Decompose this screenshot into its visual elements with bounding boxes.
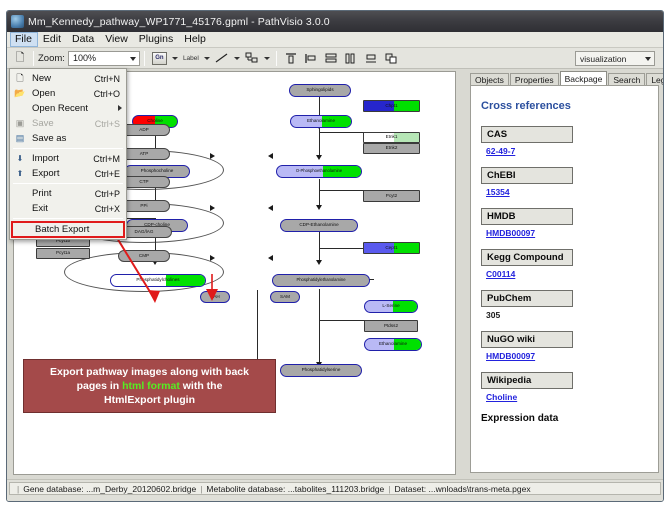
node-sphingolipids[interactable]: Sphingolipids bbox=[289, 84, 351, 97]
node-label: Sphingolipids bbox=[306, 88, 333, 93]
node-phosphatidylethanolamine[interactable]: Phosphatidylethanolamine bbox=[272, 274, 370, 287]
label-dropdown-icon[interactable] bbox=[204, 57, 210, 60]
screenshot-root: Mm_Kennedy_pathway_WP1771_45176.gpml - P… bbox=[0, 0, 670, 509]
menu-edit[interactable]: Edit bbox=[38, 32, 67, 47]
zoom-combo[interactable]: 100% bbox=[68, 51, 140, 66]
label-tool-label: Label bbox=[183, 55, 199, 62]
menu-view[interactable]: View bbox=[100, 32, 134, 47]
node-label: Phosphatidylserine bbox=[302, 368, 341, 373]
node-label: CMP bbox=[139, 254, 149, 259]
node-cept1[interactable]: Cept1 bbox=[363, 242, 420, 254]
status-gene-db-value: ...m_Derby_20120602.bridge bbox=[86, 484, 196, 494]
import-icon: ⬇ bbox=[12, 152, 28, 165]
menu-item-label: Save bbox=[28, 118, 95, 129]
menu-item-import[interactable]: ⬇ Import Ctrl+M bbox=[10, 151, 126, 166]
node-ethanolamine-bottom[interactable]: Ethanolamine bbox=[364, 338, 422, 351]
pathvisio-window: Mm_Kennedy_pathway_WP1771_45176.gpml - P… bbox=[6, 10, 664, 502]
node-label: CTP bbox=[139, 180, 148, 185]
blank-icon bbox=[12, 102, 28, 115]
chevron-down-icon bbox=[645, 57, 651, 61]
menu-item-label: Import bbox=[28, 153, 93, 164]
toolbar: 🗋 Zoom: 100% Gn Label bbox=[7, 48, 663, 69]
node-label: Ethanolamine bbox=[379, 342, 407, 347]
expression-data-title: Expression data bbox=[481, 413, 648, 424]
node-phosphatidylserine[interactable]: Phosphatidylserine bbox=[280, 364, 362, 377]
arrow-to-cdpetn bbox=[316, 205, 322, 210]
menu-item-accel: Ctrl+M bbox=[93, 154, 126, 164]
align-top-button[interactable] bbox=[282, 50, 300, 66]
node-label: ATP bbox=[140, 152, 149, 157]
toolbar-separator-1 bbox=[33, 51, 34, 66]
menu-item-accel: Ctrl+X bbox=[95, 204, 126, 214]
align-left-button[interactable] bbox=[302, 50, 320, 66]
main-body: Sphingolipids Choline Ethanolamine ADP A… bbox=[7, 69, 663, 479]
status-gene-db-label: Gene database: bbox=[23, 484, 84, 494]
menu-item-accel: Ctrl+S bbox=[95, 119, 126, 129]
node-label: CDP-Ethanolamine bbox=[299, 223, 338, 228]
menu-item-label: New bbox=[28, 73, 94, 84]
new-toolbar-button[interactable]: 🗋 bbox=[12, 50, 28, 66]
menu-item-batch-export[interactable]: Batch Export bbox=[11, 221, 125, 238]
node-ptdss2[interactable]: Ptdss2 bbox=[364, 320, 418, 332]
arrow-to-ptdetn bbox=[316, 260, 322, 265]
menu-plugins[interactable]: Plugins bbox=[134, 32, 179, 47]
same-width-button[interactable] bbox=[342, 50, 360, 66]
menu-item-open-recent[interactable]: Open Recent bbox=[10, 101, 126, 116]
toolbar-separator-2 bbox=[144, 51, 145, 66]
node-label: Phosphocholine bbox=[141, 169, 174, 174]
xref-head-hmdb: HMDB bbox=[481, 208, 573, 225]
node-etnk2[interactable]: Etnk2 bbox=[363, 143, 420, 154]
menu-item-exit[interactable]: Exit Ctrl+X bbox=[10, 201, 126, 216]
status-metabolite-db-value: ...tabolites_111203.bridge bbox=[288, 484, 385, 494]
node-label: Cept1 bbox=[385, 246, 397, 251]
blank-icon bbox=[12, 187, 28, 200]
visualization-combo[interactable]: visualization bbox=[575, 51, 655, 66]
menu-item-save: ▣ Save Ctrl+S bbox=[10, 116, 126, 131]
tab-backpage[interactable]: Backpage bbox=[560, 71, 608, 86]
node-label: Pcyt1a bbox=[56, 251, 70, 256]
xref-value-kegg[interactable]: C00114 bbox=[481, 269, 648, 279]
menu-separator-1 bbox=[13, 148, 123, 149]
node-label: Phosphatidylcholines bbox=[136, 278, 179, 283]
node-label: L-Serine bbox=[382, 304, 399, 309]
xref-head-kegg: Kegg Compound bbox=[481, 249, 573, 266]
line-icon bbox=[215, 52, 229, 64]
menu-item-label: Export bbox=[28, 168, 95, 179]
genefinder-icon: Gn bbox=[152, 52, 167, 65]
xref-link[interactable]: 62-49-7 bbox=[486, 146, 515, 156]
node-label: Ethanolamine bbox=[307, 119, 335, 124]
xref-link[interactable]: C00114 bbox=[486, 269, 515, 279]
zoom-value: 100% bbox=[73, 53, 96, 63]
menu-item-label: Exit bbox=[28, 203, 95, 214]
blank-icon bbox=[12, 202, 28, 215]
menu-item-label: Print bbox=[28, 188, 95, 199]
node-label: Pcyt2 bbox=[386, 194, 398, 199]
callout-highlight: html format bbox=[122, 380, 180, 392]
menu-file[interactable]: File bbox=[10, 32, 38, 47]
menu-data[interactable]: Data bbox=[67, 32, 100, 47]
status-dataset-label: Dataset: bbox=[395, 484, 427, 494]
node-cmp[interactable]: CMP bbox=[118, 250, 170, 262]
xref-link[interactable]: 15354 bbox=[486, 187, 510, 197]
interaction-icon bbox=[245, 52, 259, 64]
save-as-icon: ▤ bbox=[12, 132, 28, 145]
node-label: Phosphatidylethanolamine bbox=[296, 278, 345, 282]
status-divider: | bbox=[17, 484, 19, 494]
label-button[interactable]: Label bbox=[181, 50, 201, 66]
node-label: Etnk2 bbox=[386, 146, 398, 151]
file-menu-dropdown[interactable]: 🗋 New Ctrl+N 📂 Open Ctrl+O Open Recent ▣… bbox=[9, 68, 127, 240]
menu-item-accel: Ctrl+O bbox=[94, 89, 126, 99]
node-label: SAH bbox=[210, 295, 219, 300]
status-bar: | Gene database: ...m_Derby_20120602.bri… bbox=[7, 479, 663, 501]
menu-item-open[interactable]: 📂 Open Ctrl+O bbox=[10, 86, 126, 101]
save-icon: ▣ bbox=[12, 117, 28, 130]
xref-head-cas: CAS bbox=[481, 126, 573, 143]
menu-item-accel: Ctrl+P bbox=[95, 189, 126, 199]
annotation-callout: Export pathway images along with back pa… bbox=[23, 359, 276, 413]
node-pcyt1a[interactable]: Pcyt1a bbox=[36, 248, 90, 259]
edge-ophospho-down bbox=[319, 179, 320, 207]
menu-item-export[interactable]: ⬆ Export Ctrl+E bbox=[10, 166, 126, 181]
node-label: ADP bbox=[139, 128, 148, 133]
side-panel: Objects Properties Backpage Search Legen… bbox=[462, 71, 659, 475]
node-chpt1[interactable]: Chpt1 bbox=[363, 100, 420, 112]
status-divider: | bbox=[200, 484, 202, 494]
menu-item-label: Batch Export bbox=[31, 224, 123, 235]
xref-value-nugo[interactable]: HMDB00097 bbox=[481, 351, 648, 361]
status-dataset-value: ...wnloads\trans-meta.pgex bbox=[429, 484, 531, 494]
menu-help[interactable]: Help bbox=[179, 32, 212, 47]
chevron-down-icon bbox=[130, 57, 136, 61]
arrow-atp-out bbox=[268, 153, 273, 159]
node-label: Etnk1 bbox=[386, 135, 398, 140]
menu-item-accel: Ctrl+N bbox=[94, 74, 126, 84]
xref-link[interactable]: HMDB00097 bbox=[486, 228, 535, 238]
menu-item-label: Save as bbox=[28, 133, 120, 144]
status-divider: | bbox=[388, 484, 390, 494]
align-top-icon bbox=[284, 52, 298, 65]
xref-head-nugo: NuGO wiki bbox=[481, 331, 573, 348]
same-width-icon bbox=[344, 52, 358, 65]
menu-separator-3 bbox=[13, 218, 123, 219]
new-file-icon: 🗋 bbox=[16, 49, 25, 68]
stack-icon bbox=[364, 52, 378, 65]
status-bar-content: | Gene database: ...m_Derby_20120602.bri… bbox=[9, 482, 661, 495]
callout-line-1: Export pathway images along with back bbox=[50, 366, 249, 378]
arrow-cmp-out bbox=[268, 255, 273, 261]
node-ethanolamine-top[interactable]: Ethanolamine bbox=[290, 115, 352, 128]
app-icon bbox=[11, 15, 24, 28]
xref-link[interactable]: HMDB00097 bbox=[486, 351, 535, 361]
arrow-to-ophospho bbox=[316, 155, 322, 160]
bring-to-front-icon bbox=[384, 52, 398, 65]
node-label: SAM bbox=[280, 295, 290, 300]
cross-references-title: Cross references bbox=[481, 100, 648, 112]
menu-item-new[interactable]: 🗋 New Ctrl+N bbox=[10, 71, 126, 86]
menu-item-print[interactable]: Print Ctrl+P bbox=[10, 186, 126, 201]
menu-item-label: Open Recent bbox=[28, 103, 126, 114]
edge-ptdser-up bbox=[257, 290, 258, 368]
node-pcyt2[interactable]: Pcyt2 bbox=[363, 190, 420, 202]
xref-link[interactable]: Choline bbox=[486, 392, 517, 402]
arrow-atp-in bbox=[210, 153, 215, 159]
edge-serine-rail bbox=[319, 320, 369, 321]
window-title: Mm_Kennedy_pathway_WP1771_45176.gpml - P… bbox=[28, 16, 330, 28]
node-cdp-ethanolamine[interactable]: CDP-Ethanolamine bbox=[280, 219, 358, 232]
xref-head-pubchem: PubChem bbox=[481, 290, 573, 307]
datanode-button[interactable]: Gn bbox=[150, 50, 169, 66]
blank-icon bbox=[15, 223, 31, 236]
node-o-phosphoethanolamine[interactable]: O-Phosphoethanolamine bbox=[276, 165, 362, 178]
visualization-value: visualization bbox=[580, 54, 626, 64]
interaction-dropdown-icon[interactable] bbox=[264, 57, 270, 60]
node-label: Chpt1 bbox=[385, 104, 397, 109]
xref-head-wikipedia: Wikipedia bbox=[481, 372, 573, 389]
datanode-dropdown-icon[interactable] bbox=[172, 57, 178, 60]
line-dropdown-icon[interactable] bbox=[234, 57, 240, 60]
node-l-serine[interactable]: L-Serine bbox=[364, 300, 418, 313]
xref-value-pubchem: 305 bbox=[481, 310, 648, 320]
node-label: O-Phosphoethanolamine bbox=[296, 169, 342, 173]
node-split-fill bbox=[394, 133, 419, 142]
node-etnk1[interactable]: Etnk1 bbox=[363, 132, 420, 143]
menu-bar: File Edit Data View Plugins Help bbox=[7, 32, 663, 48]
new-file-icon: 🗋 bbox=[12, 72, 28, 85]
line-tool-button[interactable] bbox=[213, 50, 231, 66]
xref-value-wikipedia[interactable]: Choline bbox=[481, 392, 648, 402]
xref-value-chebi[interactable]: 15354 bbox=[481, 187, 648, 197]
backpage-content: Cross references CAS 62-49-7 ChEBI 15354… bbox=[470, 85, 659, 473]
arrow-ppi-in bbox=[210, 205, 215, 211]
node-sah[interactable]: SAH bbox=[200, 291, 230, 303]
callout-line-3: HtmlExport plugin bbox=[104, 394, 195, 406]
node-sam[interactable]: SAM bbox=[270, 291, 300, 303]
edge-ptdetn-to-ptdser bbox=[319, 289, 320, 367]
stack-center-button[interactable] bbox=[362, 50, 380, 66]
node-label: Ptdss2 bbox=[384, 324, 398, 329]
panel-tabs: Objects Properties Backpage Search Legen… bbox=[470, 71, 659, 86]
interaction-tool-button[interactable] bbox=[243, 50, 261, 66]
menu-item-save-as[interactable]: ▤ Save as bbox=[10, 131, 126, 146]
menu-item-accel: Ctrl+E bbox=[95, 169, 126, 179]
xref-value-cas[interactable]: 62-49-7 bbox=[481, 146, 648, 156]
callout-line-2a: pages in bbox=[77, 380, 123, 392]
menu-item-label: Open bbox=[28, 88, 94, 99]
align-left-icon bbox=[304, 52, 318, 65]
title-bar: Mm_Kennedy_pathway_WP1771_45176.gpml - P… bbox=[7, 11, 663, 32]
xref-value-hmdb[interactable]: HMDB00097 bbox=[481, 228, 648, 238]
chevron-right-icon bbox=[118, 105, 122, 111]
toolbar-separator-3 bbox=[276, 51, 277, 66]
node-label: DAG/lAG bbox=[135, 230, 154, 235]
arrow-ppi-out bbox=[268, 205, 273, 211]
xref-head-chebi: ChEBI bbox=[481, 167, 573, 184]
export-icon: ⬆ bbox=[12, 167, 28, 180]
order-front-button[interactable] bbox=[382, 50, 400, 66]
zoom-label: Zoom: bbox=[38, 53, 65, 64]
status-metabolite-db-label: Metabolite database: bbox=[206, 484, 285, 494]
arrow-cmp-in bbox=[210, 255, 215, 261]
node-label: PPi bbox=[140, 204, 147, 209]
callout-line-2b: with the bbox=[180, 380, 223, 392]
folder-icon: 📂 bbox=[12, 87, 28, 100]
same-height-button[interactable] bbox=[322, 50, 340, 66]
menu-separator-2 bbox=[13, 183, 123, 184]
edge-cdpetn-down bbox=[319, 232, 320, 262]
node-label: Choline bbox=[147, 119, 163, 124]
same-height-icon bbox=[324, 52, 338, 65]
node-phosphatidylcholines[interactable]: Phosphatidylcholines bbox=[110, 274, 206, 287]
